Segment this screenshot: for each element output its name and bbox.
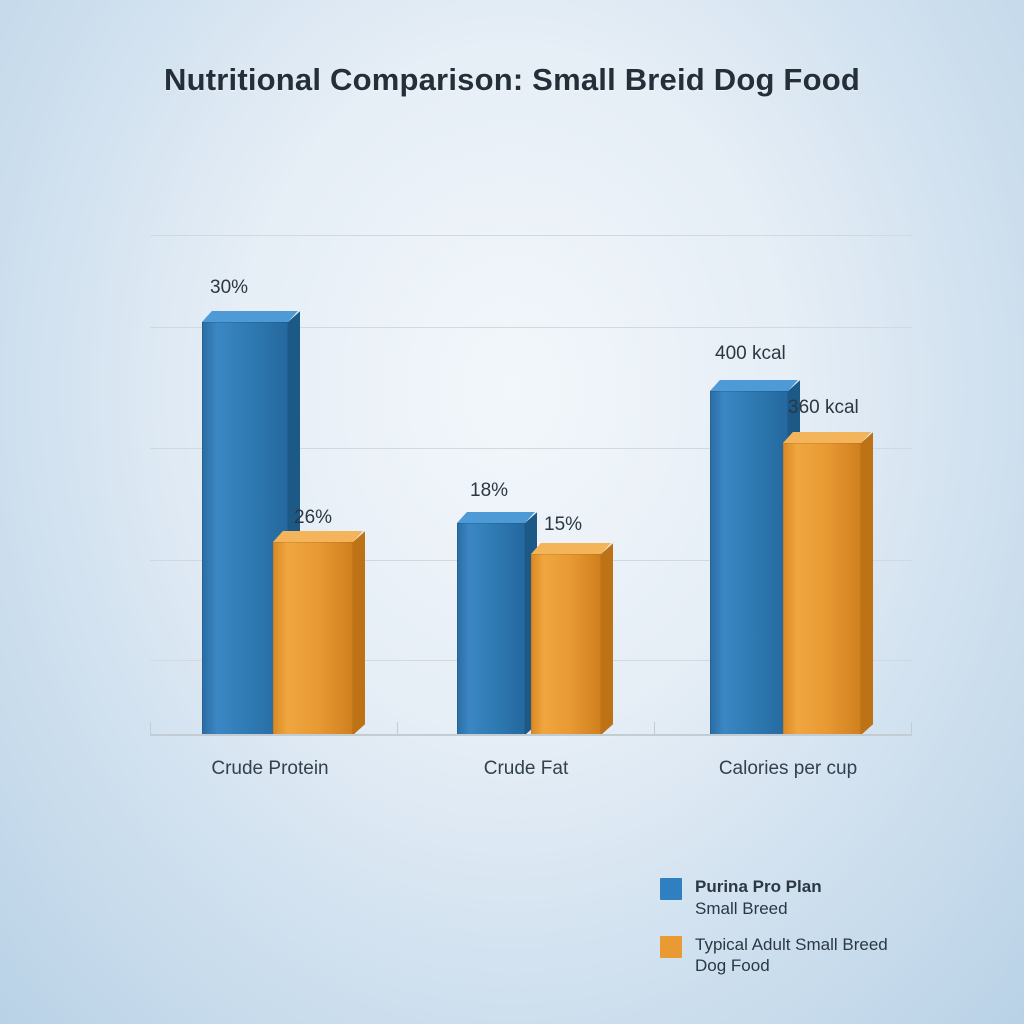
legend-swatch-icon [660,936,682,958]
bar-face [783,443,861,735]
bar-calories-orange[interactable] [783,443,861,735]
axis-tick-2 [654,722,655,735]
legend-item-label-line1: Typical Adult Small Breed [695,934,888,956]
bar-side-face [353,531,365,735]
plot-area: 30% 26% 18% 15% 400 kcal [150,235,912,735]
axis-tick-end [911,722,912,735]
bar-crude-protein-orange[interactable] [273,542,353,735]
bar-crude-fat-orange[interactable] [531,554,601,735]
legend-item-label-line2: Dog Food [695,955,888,977]
legend-item-purina-pro-plan[interactable]: Purina Pro Plan Small Breed [660,876,990,920]
chart-container: Nutritional Comparison: Small Breid Dog … [0,0,1024,1024]
bar-top-face [531,543,611,554]
legend-item-typical-adult[interactable]: Typical Adult Small Breed Dog Food [660,934,990,978]
axis-tick-1 [397,722,398,735]
category-label-calories-per-cup: Calories per cup [672,758,904,780]
category-label-crude-fat: Crude Fat [412,758,640,780]
legend-item-label: Purina Pro Plan Small Breed [695,876,822,920]
chart-title: Nutritional Comparison: Small Breid Dog … [0,62,1024,98]
bar-crude-fat-blue[interactable] [457,523,525,735]
bar-value-crude-fat-orange: 15% [544,514,582,536]
bar-value-crude-protein-orange: 26% [294,507,332,529]
bar-calories-blue[interactable] [710,391,788,735]
legend-item-label-line2: Small Breed [695,898,822,920]
bar-top-face [457,512,535,523]
bar-face [457,523,525,735]
bar-top-face [783,432,871,443]
bar-value-crude-protein-blue: 30% [210,277,248,299]
legend-swatch-icon [660,878,682,900]
bar-face [710,391,788,735]
bar-value-calories-blue: 400 kcal [715,343,786,365]
bar-face [531,554,601,735]
gridline-5 [150,235,912,236]
x-axis-line [150,734,912,736]
category-label-crude-protein: Crude Protein [155,758,385,780]
bar-top-face [273,531,363,542]
bar-top-face [710,380,798,391]
bar-face [273,542,353,735]
bar-side-face [861,432,873,735]
bar-side-face [601,543,613,735]
bar-top-face [202,311,298,322]
legend-item-label-line1: Purina Pro Plan [695,876,822,898]
legend-item-label: Typical Adult Small Breed Dog Food [695,934,888,978]
bar-value-calories-orange: 360 kcal [788,397,859,419]
bar-value-crude-fat-blue: 18% [470,480,508,502]
axis-tick-start [150,722,151,735]
chart-legend: Purina Pro Plan Small Breed Typical Adul… [660,876,990,991]
